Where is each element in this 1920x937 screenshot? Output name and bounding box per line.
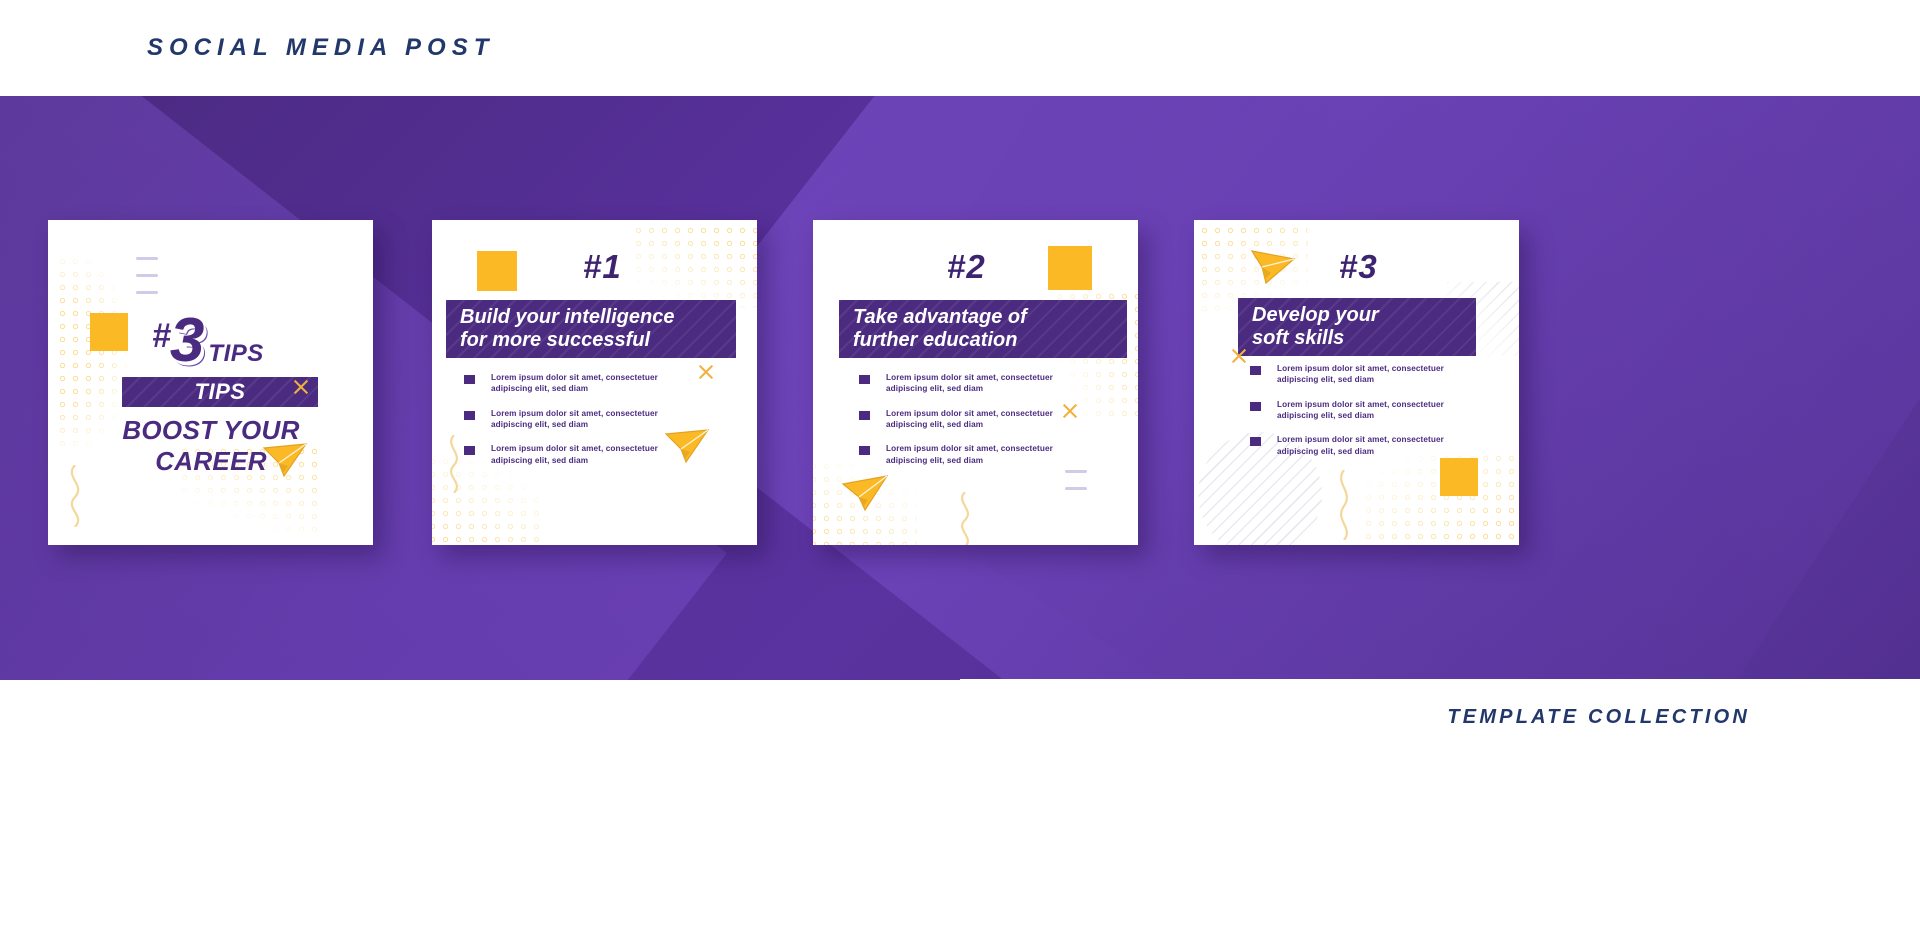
paper-plane-icon (1250, 247, 1296, 287)
card-number-label: #1 (583, 248, 622, 286)
list-item: Lorem ipsum dolor sit amet, consectetuer… (464, 408, 669, 431)
footer-label: TEMPLATE COLLECTION (1447, 706, 1750, 729)
list-item-text: Lorem ipsum dolor sit amet, consectetuer… (1277, 434, 1455, 457)
list-item: Lorem ipsum dolor sit amet, consectetuer… (464, 372, 669, 395)
bullet-square-icon (859, 411, 870, 420)
list-item-text: Lorem ipsum dolor sit amet, consectetuer… (491, 408, 669, 431)
card-heading-line-1: Build your intelligence (460, 306, 674, 329)
list-item-text: Lorem ipsum dolor sit amet, consectetuer… (491, 443, 669, 466)
footer-white-notch (960, 679, 1920, 937)
yellow-square-decoration (477, 251, 517, 291)
card-heading-banner: Take advantage of further education (839, 300, 1127, 358)
card-bullet-list: Lorem ipsum dolor sit amet, consectetuer… (464, 372, 669, 479)
list-item-text: Lorem ipsum dolor sit amet, consectetuer… (886, 443, 1064, 466)
x-decoration (1061, 402, 1079, 420)
card-number-label: #2 (947, 248, 986, 286)
bullet-square-icon (1250, 366, 1261, 375)
cover-number: 3 (170, 306, 202, 375)
poster-canvas: SOCIAL MEDIA POST TEMPLATE COLLECTION #3… (0, 0, 1920, 937)
bullet-square-icon (464, 375, 475, 384)
yellow-square-decoration (1440, 458, 1478, 496)
card-bullet-list: Lorem ipsum dolor sit amet, consectetuer… (859, 372, 1064, 479)
dash-line-2 (136, 274, 158, 277)
list-item: Lorem ipsum dolor sit amet, consectetuer… (1250, 363, 1455, 386)
wave-line-decoration (442, 435, 466, 493)
cover-tips-banner: TIPS (122, 377, 318, 407)
card-heading-line-2: for more successful (460, 329, 674, 352)
cover-tips-banner-label: TIPS (195, 379, 246, 405)
list-item-text: Lorem ipsum dolor sit amet, consectetuer… (1277, 399, 1455, 422)
list-item: Lorem ipsum dolor sit amet, consectetuer… (859, 443, 1064, 466)
card-number-label: #3 (1339, 248, 1378, 286)
card-heading-line-1: Develop your (1252, 304, 1379, 327)
bullet-square-icon (859, 446, 870, 455)
list-item: Lorem ipsum dolor sit amet, consectetuer… (1250, 399, 1455, 422)
card-heading-text: Develop your soft skills (1252, 304, 1379, 350)
cover-number-block: #3TIPS (152, 305, 264, 376)
dash-line-1 (136, 257, 158, 260)
post-card-cover[interactable]: #3TIPS TIPS BOOST YOUR CAREER (48, 220, 373, 545)
hash-symbol: # (152, 317, 170, 355)
bullet-square-icon (1250, 402, 1261, 411)
yellow-square-decoration (90, 313, 128, 351)
dash-line-2 (1065, 487, 1087, 490)
cover-tips-word: TIPS (208, 340, 263, 367)
post-card-tip-1[interactable]: #1 Build your intelligence for more succ… (432, 220, 757, 545)
x-decoration (292, 378, 310, 396)
wave-line-decoration (1332, 470, 1356, 540)
card-heading-line-2: further education (853, 329, 1027, 352)
bullet-square-icon (464, 411, 475, 420)
card-heading-line-1: Take advantage of (853, 306, 1027, 329)
bullet-square-icon (859, 375, 870, 384)
post-card-tip-3[interactable]: #3 Develop your soft skills Lorem ipsum … (1194, 220, 1519, 545)
list-item: Lorem ipsum dolor sit amet, consectetuer… (464, 443, 669, 466)
card-bullet-list: Lorem ipsum dolor sit amet, consectetuer… (1250, 363, 1455, 470)
bullet-square-icon (1250, 437, 1261, 446)
list-item: Lorem ipsum dolor sit amet, consectetuer… (859, 372, 1064, 395)
wave-line-decoration (62, 465, 88, 527)
card-heading-banner: Build your intelligence for more success… (446, 300, 736, 358)
list-item-text: Lorem ipsum dolor sit amet, consectetuer… (1277, 363, 1455, 386)
card-heading-banner: Develop your soft skills (1238, 298, 1476, 356)
list-item-text: Lorem ipsum dolor sit amet, consectetuer… (886, 408, 1064, 431)
yellow-square-decoration (1048, 246, 1092, 290)
wave-line-decoration (953, 492, 977, 545)
card-heading-text: Take advantage of further education (853, 306, 1027, 352)
dash-line-3 (136, 291, 158, 294)
list-item: Lorem ipsum dolor sit amet, consectetuer… (1250, 434, 1455, 457)
list-item-text: Lorem ipsum dolor sit amet, consectetuer… (886, 372, 1064, 395)
dot-pattern-decoration-topright (632, 224, 757, 308)
list-item: Lorem ipsum dolor sit amet, consectetuer… (859, 408, 1064, 431)
x-decoration (697, 363, 715, 381)
paper-plane-icon (262, 442, 308, 480)
card-heading-line-2: soft skills (1252, 327, 1379, 350)
paper-plane-icon (664, 428, 710, 466)
page-title: SOCIAL MEDIA POST (147, 34, 494, 62)
x-decoration (1230, 347, 1248, 365)
list-item-text: Lorem ipsum dolor sit amet, consectetuer… (491, 372, 669, 395)
dash-line-1 (1065, 470, 1087, 473)
card-heading-text: Build your intelligence for more success… (460, 306, 674, 352)
paper-plane-icon (841, 474, 889, 514)
post-card-tip-2[interactable]: #2 Take advantage of further education L… (813, 220, 1138, 545)
